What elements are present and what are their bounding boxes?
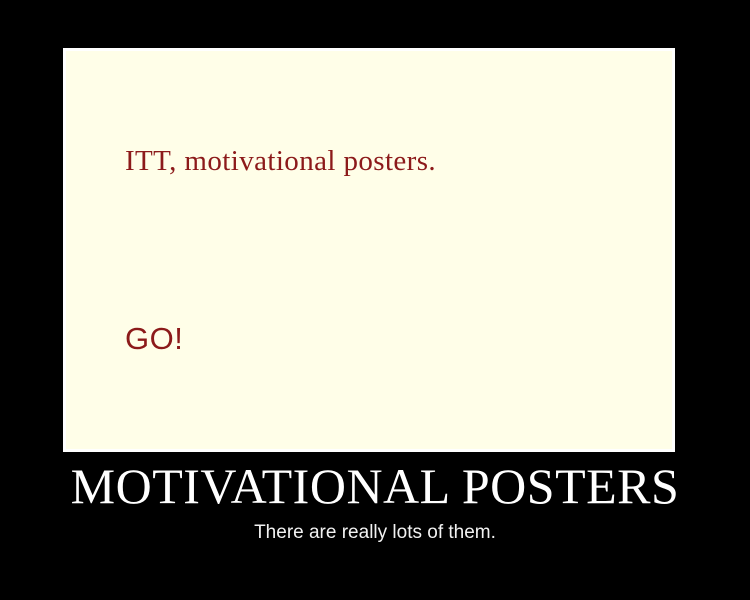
inner-image-canvas: ITT, motivational posters. GO! xyxy=(66,51,672,449)
image-frame: ITT, motivational posters. GO! xyxy=(63,48,675,452)
demotivational-poster: ITT, motivational posters. GO! MOTIVATIO… xyxy=(0,0,750,600)
inner-image-text-line-2: GO! xyxy=(125,323,183,354)
poster-title: MOTIVATIONAL POSTERS xyxy=(0,458,750,514)
caption-block: MOTIVATIONAL POSTERS There are really lo… xyxy=(0,458,750,546)
inner-image-text-line-1: ITT, motivational posters. xyxy=(125,147,436,176)
poster-subtitle: There are really lots of them. xyxy=(0,520,750,546)
